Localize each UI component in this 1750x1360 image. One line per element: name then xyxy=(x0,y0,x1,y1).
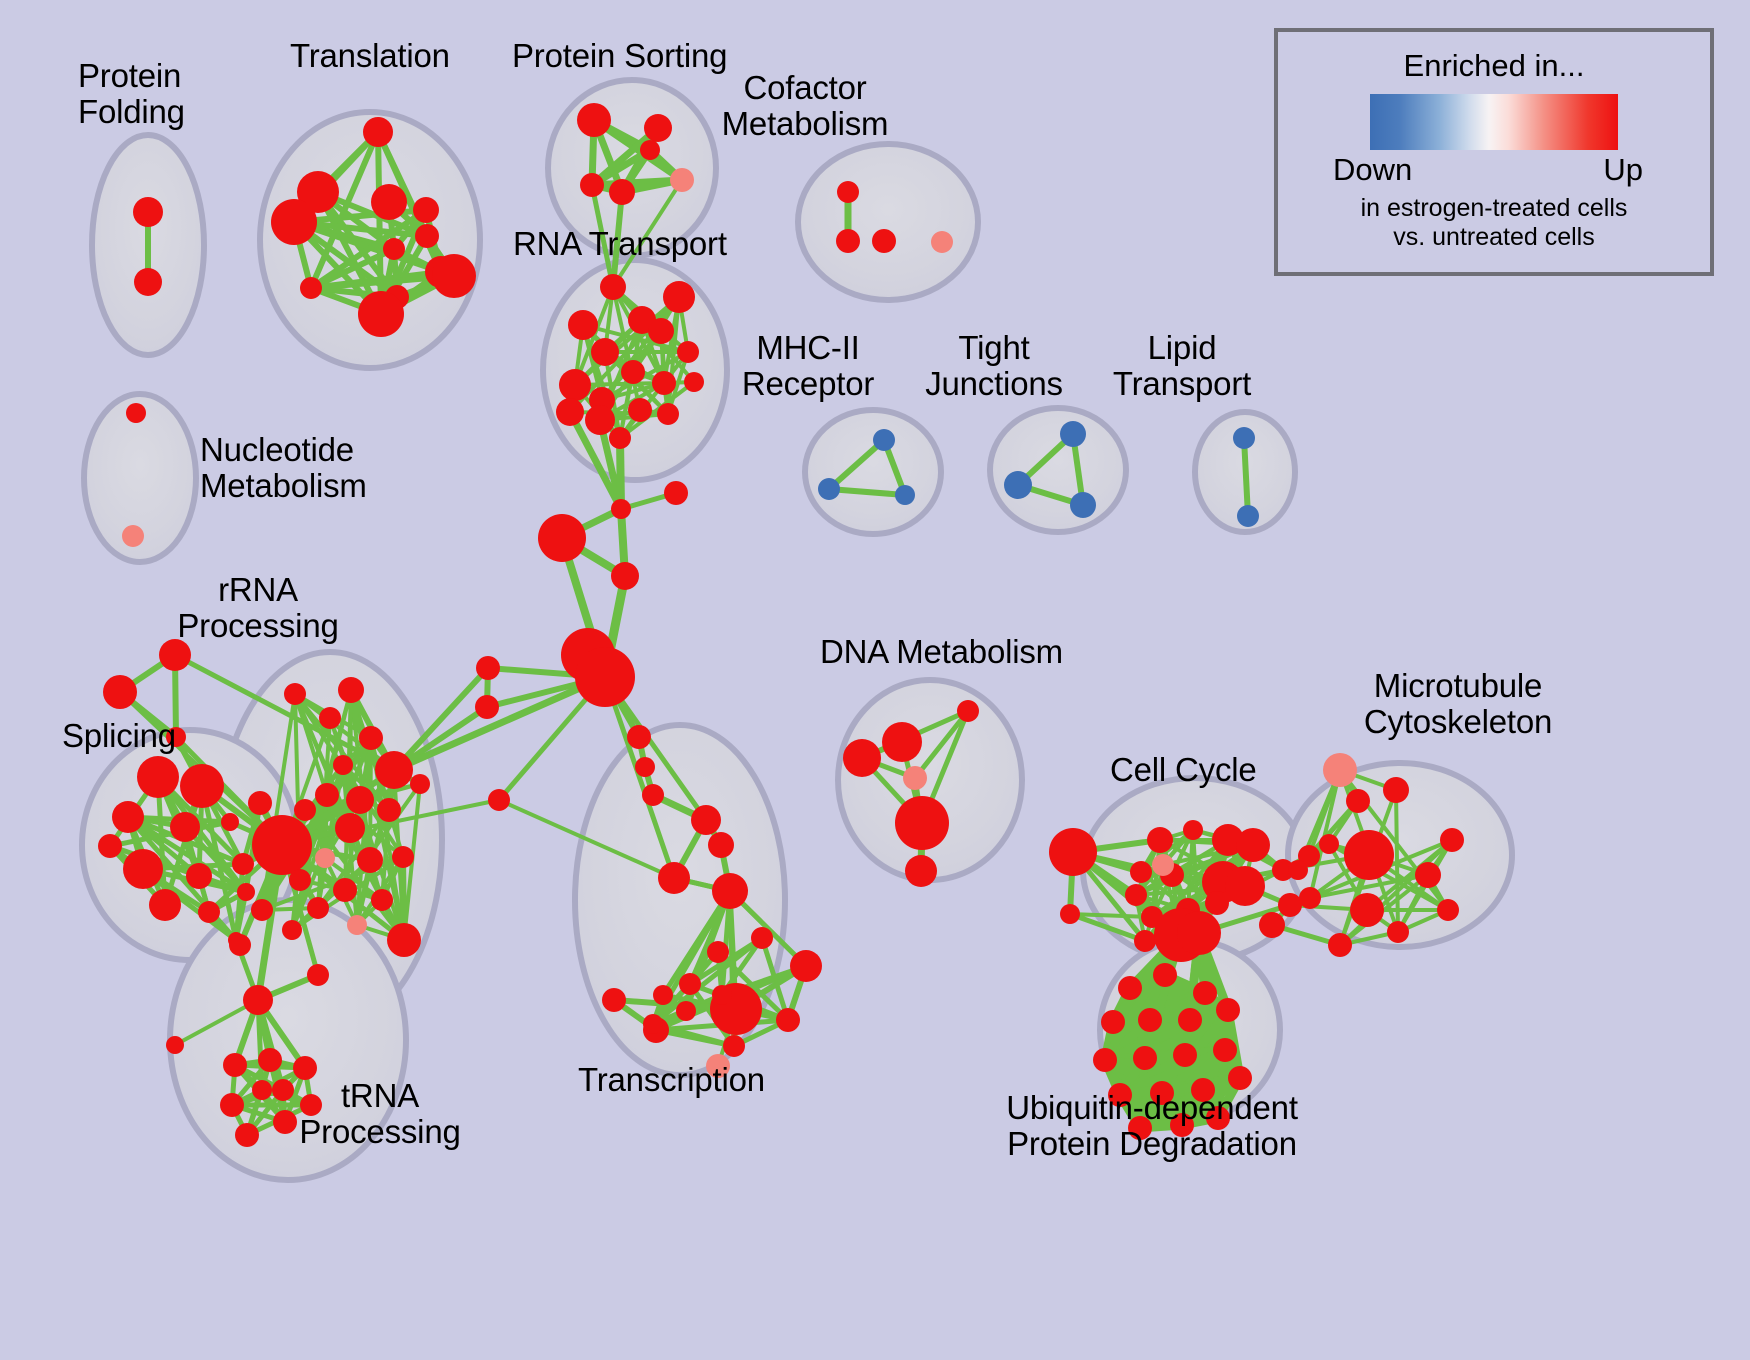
network-node xyxy=(293,1056,317,1080)
network-node xyxy=(957,700,979,722)
network-node xyxy=(307,897,329,919)
network-node xyxy=(170,812,200,842)
cluster-label-protein-folding: Protein Folding xyxy=(78,58,185,129)
legend-endpoints: Down Up xyxy=(1329,152,1659,192)
network-node xyxy=(723,1035,745,1057)
network-node xyxy=(223,1053,247,1077)
network-node xyxy=(1440,828,1464,852)
network-node xyxy=(410,774,430,794)
network-node xyxy=(166,1036,184,1054)
network-node xyxy=(248,791,272,815)
network-node xyxy=(347,915,367,935)
network-node xyxy=(149,889,181,921)
cluster-label-splicing: Splicing xyxy=(62,718,176,754)
network-node xyxy=(1259,912,1285,938)
network-node xyxy=(243,985,273,1015)
network-node xyxy=(392,846,414,868)
network-node xyxy=(307,964,329,986)
cluster-label-translation: Translation xyxy=(290,38,450,74)
network-node xyxy=(635,757,655,777)
network-node xyxy=(627,725,651,749)
network-node xyxy=(294,799,316,821)
network-node xyxy=(843,739,881,777)
network-node xyxy=(413,197,439,223)
network-node xyxy=(1437,899,1459,921)
network-node xyxy=(1177,911,1221,955)
network-node xyxy=(1183,820,1203,840)
network-node xyxy=(580,173,604,197)
network-node xyxy=(1205,891,1229,915)
network-node xyxy=(1130,861,1152,883)
network-node xyxy=(679,973,701,995)
network-node xyxy=(1299,887,1321,909)
network-node xyxy=(315,783,339,807)
legend-subtitle-line-1: in estrogen-treated cells xyxy=(1278,194,1710,223)
network-node xyxy=(333,878,357,902)
network-node xyxy=(538,514,586,562)
network-node xyxy=(335,813,365,843)
network-node xyxy=(1133,1046,1157,1070)
network-node xyxy=(198,901,220,923)
network-node xyxy=(643,1014,663,1034)
network-node xyxy=(712,985,732,1005)
network-node xyxy=(556,398,584,426)
network-node xyxy=(1153,963,1177,987)
network-node xyxy=(653,985,673,1005)
cluster-label-microtubule: Microtubule Cytoskeleton xyxy=(1258,668,1658,739)
cluster-label-ubiquitin: Ubiquitin-dependent Protein Degradation xyxy=(952,1090,1352,1161)
network-node xyxy=(1070,492,1096,518)
network-node xyxy=(903,766,927,790)
network-node xyxy=(1173,1043,1197,1067)
network-node xyxy=(905,855,937,887)
cluster-ellipse-cofactor-metabolism xyxy=(798,144,978,300)
network-node xyxy=(818,478,840,500)
legend-high-label: Up xyxy=(1603,152,1643,188)
network-node xyxy=(836,229,860,253)
network-node xyxy=(776,1008,800,1032)
network-node xyxy=(333,755,353,775)
network-node xyxy=(358,291,404,337)
network-node xyxy=(575,647,635,707)
network-node xyxy=(1328,933,1352,957)
legend-box: Enriched in... Down Up in estrogen-treat… xyxy=(1274,28,1714,276)
network-node xyxy=(1101,1010,1125,1034)
network-node xyxy=(251,899,273,921)
network-node xyxy=(585,405,615,435)
legend-subtitle-line-2: vs. untreated cells xyxy=(1278,223,1710,252)
network-node xyxy=(476,656,500,680)
network-node xyxy=(611,499,631,519)
network-node xyxy=(1060,421,1086,447)
legend-low-label: Down xyxy=(1333,152,1412,188)
network-node xyxy=(1346,789,1370,813)
network-node xyxy=(642,784,664,806)
network-node xyxy=(289,869,311,891)
network-node xyxy=(432,254,476,298)
network-node xyxy=(1147,827,1173,853)
network-node xyxy=(357,847,383,873)
network-node xyxy=(658,862,690,894)
cluster-label-trna-processing: tRNA Processing xyxy=(180,1078,580,1149)
network-node xyxy=(1152,854,1174,876)
network-node xyxy=(1193,981,1217,1005)
network-node xyxy=(931,231,953,253)
network-node xyxy=(375,751,413,789)
network-node xyxy=(122,525,144,547)
network-node xyxy=(568,310,598,340)
network-node xyxy=(1093,1048,1117,1072)
network-node xyxy=(1216,998,1240,1022)
network-node xyxy=(180,764,224,808)
network-node xyxy=(133,197,163,227)
network-node xyxy=(1125,884,1147,906)
cluster-ellipse-mhc-ii-receptor xyxy=(805,410,941,534)
network-node xyxy=(1213,1038,1237,1062)
cluster-label-nucleotide-metabolism: Nucleotide Metabolism xyxy=(200,432,367,503)
network-node xyxy=(371,889,393,911)
network-node xyxy=(134,268,162,296)
network-node xyxy=(1228,1066,1252,1090)
network-node xyxy=(1236,828,1270,862)
network-node xyxy=(346,786,374,814)
network-node xyxy=(363,117,393,147)
network-node xyxy=(315,848,335,868)
legend-subtitle: in estrogen-treated cells vs. untreated … xyxy=(1278,194,1710,251)
network-node xyxy=(611,562,639,590)
network-node xyxy=(751,927,773,949)
cluster-label-lipid-transport: Lipid Transport xyxy=(982,330,1382,401)
network-node xyxy=(600,274,626,300)
network-node xyxy=(657,403,679,425)
network-node xyxy=(126,403,146,423)
network-node xyxy=(1134,930,1156,952)
network-node xyxy=(708,832,734,858)
network-node xyxy=(98,834,122,858)
network-node xyxy=(895,796,949,850)
network-node xyxy=(1049,828,1097,876)
network-node xyxy=(1415,862,1441,888)
network-node xyxy=(837,181,859,203)
edge xyxy=(1244,438,1248,516)
cluster-ellipse-dna-metabolism xyxy=(838,680,1022,880)
network-node xyxy=(707,941,729,963)
network-node xyxy=(895,485,915,505)
network-node xyxy=(415,224,439,248)
network-node xyxy=(137,756,179,798)
network-node xyxy=(1178,1008,1202,1032)
network-node xyxy=(1323,753,1357,787)
network-node xyxy=(359,726,383,750)
network-node xyxy=(103,675,137,709)
network-node xyxy=(112,801,144,833)
network-node xyxy=(559,369,591,401)
network-node xyxy=(237,883,255,901)
network-node xyxy=(377,798,401,822)
cluster-ellipse-tight-junctions xyxy=(990,408,1126,532)
network-node xyxy=(790,950,822,982)
network-node xyxy=(258,1048,282,1072)
network-node xyxy=(221,813,239,831)
cluster-label-rrna-processing: rRNA Processing xyxy=(58,572,458,643)
network-node xyxy=(628,398,652,422)
network-node xyxy=(383,238,405,260)
network-node xyxy=(186,863,212,889)
network-node xyxy=(319,707,341,729)
network-node xyxy=(300,277,322,299)
network-node xyxy=(882,722,922,762)
network-node xyxy=(387,923,421,957)
network-node xyxy=(1225,866,1265,906)
cluster-label-protein-sorting: Protein Sorting xyxy=(512,38,727,74)
cluster-label-dna-metabolism: DNA Metabolism xyxy=(820,634,1063,670)
network-node xyxy=(691,805,721,835)
network-node xyxy=(232,853,254,875)
network-node xyxy=(872,229,896,253)
network-node xyxy=(1138,1008,1162,1032)
network-node xyxy=(1060,904,1080,924)
cluster-label-rna-transport: RNA Transport xyxy=(513,226,727,262)
network-node xyxy=(664,481,688,505)
network-node xyxy=(712,873,748,909)
network-node xyxy=(338,677,364,703)
edge xyxy=(394,677,605,770)
network-node xyxy=(159,639,191,671)
network-node xyxy=(1278,893,1302,917)
network-node xyxy=(282,920,302,940)
network-node xyxy=(271,199,317,245)
network-node xyxy=(1344,830,1394,880)
network-node xyxy=(1350,893,1384,927)
network-node xyxy=(123,849,163,889)
network-node xyxy=(670,168,694,192)
network-node xyxy=(640,140,660,160)
network-node xyxy=(475,695,499,719)
network-node xyxy=(663,281,695,313)
network-node xyxy=(1233,427,1255,449)
network-node xyxy=(371,184,407,220)
network-node xyxy=(873,429,895,451)
network-node xyxy=(609,179,635,205)
legend-color-gradient xyxy=(1370,94,1618,150)
network-node xyxy=(609,427,631,449)
network-node xyxy=(1319,834,1339,854)
legend-title: Enriched in... xyxy=(1278,48,1710,84)
network-node xyxy=(676,1001,696,1021)
cluster-label-transcription: Transcription xyxy=(578,1062,765,1098)
enrichment-network-figure: Protein FoldingTranslationProtein Sortin… xyxy=(0,0,1750,1360)
network-node xyxy=(1004,471,1032,499)
network-node xyxy=(1387,921,1409,943)
network-node xyxy=(602,988,626,1012)
network-node xyxy=(229,934,251,956)
cluster-label-cell-cycle: Cell Cycle xyxy=(1110,752,1257,788)
network-node xyxy=(488,789,510,811)
network-node xyxy=(284,683,306,705)
network-node xyxy=(1237,505,1259,527)
network-node xyxy=(252,815,312,875)
network-node xyxy=(1288,860,1308,880)
network-node xyxy=(1383,777,1409,803)
network-node xyxy=(1118,976,1142,1000)
cluster-label-cofactor-metabolism: Cofactor Metabolism xyxy=(605,70,1005,141)
